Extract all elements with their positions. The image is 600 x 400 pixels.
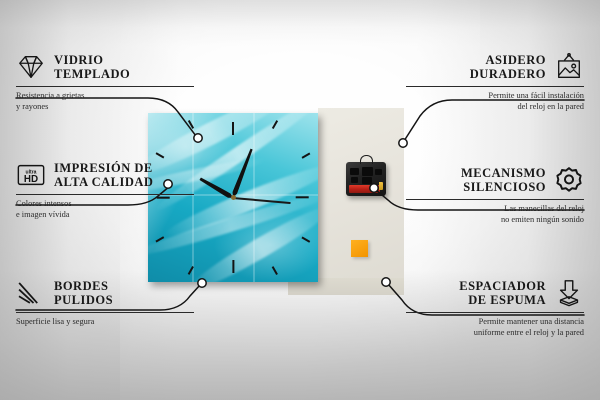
clock-mechanism	[346, 162, 386, 196]
feature-title: ESPACIADOR DE ESPUMA	[459, 279, 546, 308]
feature-title: BORDES PULIDOS	[54, 279, 113, 308]
feature-vidrio-templado: VIDRIO TEMPLADO Resistencia a grietas y …	[16, 52, 194, 112]
spacer-arrow-icon	[554, 278, 584, 308]
ultra-hd-icon: ultra HD	[16, 160, 46, 190]
glass-reflection-line	[253, 113, 255, 282]
mechanism-detail	[362, 167, 373, 176]
clock-center-pivot	[231, 195, 236, 200]
battery-cap	[379, 182, 383, 190]
feature-espaciador-de-espuma: ESPACIADOR DE ESPUMA Permite mantener un…	[406, 278, 584, 338]
feature-rule	[406, 312, 584, 313]
feature-rule	[406, 86, 584, 87]
feature-header: VIDRIO TEMPLADO	[16, 52, 194, 82]
feature-description: Permite una fácil instalación del reloj …	[406, 91, 584, 112]
feature-title: MECANISMO SILENCIOSO	[461, 166, 546, 195]
feature-mecanismo-silencioso: MECANISMO SILENCIOSO Las manecillas del …	[406, 165, 584, 225]
feature-rule	[16, 194, 194, 195]
feature-description: Las manecillas del reloj no emiten ningú…	[406, 204, 584, 225]
feature-rule	[16, 312, 194, 313]
feature-description: Resistencia a grietas y rayones	[16, 91, 194, 112]
feature-rule	[16, 86, 194, 87]
feature-header: ultra HD IMPRESIÓN DE ALTA CALIDAD	[16, 160, 194, 190]
feature-title: VIDRIO TEMPLADO	[54, 53, 130, 82]
mechanism-detail	[362, 177, 372, 184]
wall-backdrop-panel	[318, 108, 404, 286]
mechanism-detail	[351, 177, 358, 183]
feature-header: ASIDERO DURADERO	[406, 52, 584, 82]
feature-description: Permite mantener una distancia uniforme …	[406, 317, 584, 338]
clock-tick-major	[296, 196, 309, 198]
hanging-frame-icon	[554, 52, 584, 82]
ultra-hd-icon-large-text: HD	[24, 174, 38, 185]
mechanism-detail	[375, 169, 382, 175]
infographic-canvas: VIDRIO TEMPLADO Resistencia a grietas y …	[0, 0, 600, 400]
feature-title: IMPRESIÓN DE ALTA CALIDAD	[54, 161, 153, 190]
clock-tick-major	[232, 260, 234, 273]
foam-spacer	[351, 240, 368, 257]
feature-description: Colores intensos e imagen vívida	[16, 199, 194, 220]
aa-battery	[349, 185, 380, 193]
feature-bordes-pulidos: BORDES PULIDOS Superficie lisa y segura	[16, 278, 194, 328]
feature-impresion-alta-calidad: ultra HD IMPRESIÓN DE ALTA CALIDAD Color…	[16, 160, 194, 220]
clock-tick-major	[232, 122, 234, 135]
diamond-icon	[16, 52, 46, 82]
feature-rule	[406, 199, 584, 200]
mechanism-detail	[350, 168, 359, 175]
feature-title: ASIDERO DURADERO	[470, 53, 546, 82]
feature-description: Superficie lisa y segura	[16, 317, 194, 328]
background-vignette-top	[0, 0, 600, 46]
feature-header: ESPACIADOR DE ESPUMA	[406, 278, 584, 308]
polished-edges-icon	[16, 278, 46, 308]
feature-header: BORDES PULIDOS	[16, 278, 194, 308]
mechanism-hook	[360, 155, 373, 164]
feature-header: MECANISMO SILENCIOSO	[406, 165, 584, 195]
feature-asidero-duradero: ASIDERO DURADERO Permite una fácil insta…	[406, 52, 584, 112]
gear-icon	[554, 165, 584, 195]
